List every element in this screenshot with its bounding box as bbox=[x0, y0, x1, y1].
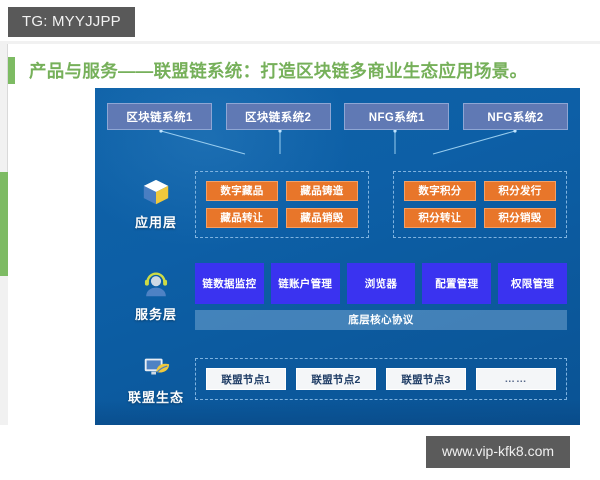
chip-alliance-node-3[interactable]: 联盟节点3 bbox=[386, 368, 466, 390]
chip-chain-account-manage[interactable]: 链账户管理 bbox=[271, 263, 340, 304]
chip-points-issue[interactable]: 积分发行 bbox=[484, 181, 556, 201]
layer-service-label: 服务层 bbox=[117, 269, 195, 323]
chip-points-transfer[interactable]: 积分转让 bbox=[404, 208, 476, 228]
chip-chain-data-monitor[interactable]: 链数据监控 bbox=[195, 263, 264, 304]
monitor-leaf-icon bbox=[141, 352, 171, 382]
chip-collectible-mint[interactable]: 藏品铸造 bbox=[286, 181, 358, 201]
service-modules-row: 链数据监控 链账户管理 浏览器 配置管理 权限管理 bbox=[195, 263, 567, 304]
system-box-nfg-1[interactable]: NFG系统1 bbox=[344, 103, 449, 130]
system-box-blockchain-2[interactable]: 区块链系统2 bbox=[226, 103, 331, 130]
chip-alliance-node-1[interactable]: 联盟节点1 bbox=[206, 368, 286, 390]
slide-page: 产品与服务——联盟链系统：打造区块链多商业生态应用场景。 区块链系统1 区块链系… bbox=[0, 0, 600, 480]
chip-config-manage[interactable]: 配置管理 bbox=[422, 263, 491, 304]
chip-browser[interactable]: 浏览器 bbox=[347, 263, 416, 304]
layer-service-text: 服务层 bbox=[135, 304, 177, 323]
chip-alliance-node-more[interactable]: …… bbox=[476, 368, 556, 390]
cube-icon bbox=[141, 177, 171, 207]
chip-digital-collectible[interactable]: 数字藏品 bbox=[206, 181, 278, 201]
layer-ecology: 联盟生态 联盟节点1 联盟节点2 联盟节点3 …… bbox=[117, 350, 567, 408]
telegram-watermark: TG: MYYJJPP bbox=[8, 7, 135, 37]
chip-digital-points[interactable]: 数字积分 bbox=[404, 181, 476, 201]
chip-points-burn[interactable]: 积分销毁 bbox=[484, 208, 556, 228]
layer-application-text: 应用层 bbox=[135, 212, 177, 231]
page-title-row: 产品与服务——联盟链系统：打造区块链多商业生态应用场景。 bbox=[8, 54, 592, 86]
layer-application-label: 应用层 bbox=[117, 177, 195, 231]
layer-application: 应用层 数字藏品 藏品铸造 藏品转让 藏品销毁 数字积分 积分发行 积分转让 积… bbox=[117, 166, 567, 242]
chip-permission-manage[interactable]: 权限管理 bbox=[498, 263, 567, 304]
site-watermark: www.vip-kfk8.com bbox=[426, 436, 570, 468]
chip-collectible-burn[interactable]: 藏品销毁 bbox=[286, 208, 358, 228]
page-title: 产品与服务——联盟链系统：打造区块链多商业生态应用场景。 bbox=[29, 58, 527, 83]
system-box-nfg-2[interactable]: NFG系统2 bbox=[463, 103, 568, 130]
chip-collectible-transfer[interactable]: 藏品转让 bbox=[206, 208, 278, 228]
ecology-nodes-group: 联盟节点1 联盟节点2 联盟节点3 …… bbox=[195, 358, 567, 400]
layer-service: 服务层 链数据监控 链账户管理 浏览器 配置管理 权限管理 底层核心协议 bbox=[117, 258, 567, 334]
layer-ecology-text: 联盟生态 bbox=[128, 387, 184, 406]
title-accent-bar bbox=[8, 57, 15, 84]
diagram-panel: 区块链系统1 区块链系统2 NFG系统1 NFG系统2 应用层 数字藏品 藏品铸… bbox=[95, 88, 580, 425]
system-boxes-row: 区块链系统1 区块链系统2 NFG系统1 NFG系统2 bbox=[107, 103, 568, 130]
chip-alliance-node-2[interactable]: 联盟节点2 bbox=[296, 368, 376, 390]
layer-ecology-label: 联盟生态 bbox=[117, 352, 195, 406]
application-group-points: 数字积分 积分发行 积分转让 积分销毁 bbox=[393, 171, 567, 238]
core-protocol-bar: 底层核心协议 bbox=[195, 310, 567, 330]
left-green-edge-strip bbox=[0, 172, 8, 276]
application-group-collectibles: 数字藏品 藏品铸造 藏品转让 藏品销毁 bbox=[195, 171, 369, 238]
headset-person-icon bbox=[141, 269, 171, 299]
system-box-blockchain-1[interactable]: 区块链系统1 bbox=[107, 103, 212, 130]
